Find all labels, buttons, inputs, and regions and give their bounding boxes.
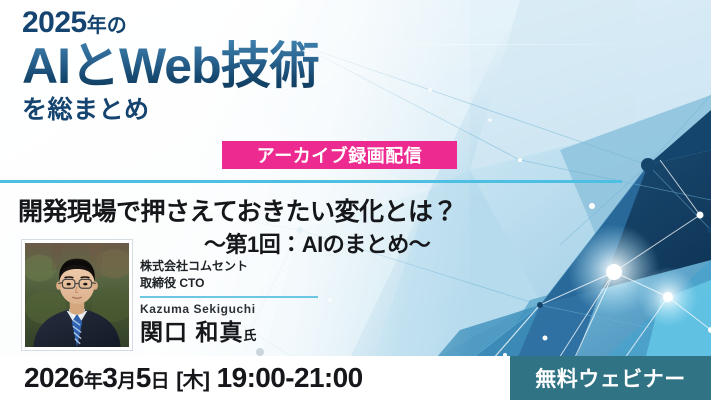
speaker-name-en: Kazuma Sekiguchi [140,302,325,318]
speaker-portrait-image [25,243,129,347]
event-datetime: 2026年3月5日 [木] 19:00-21:00 [24,364,363,392]
event-year-unit: 年 [84,371,102,392]
event-day-of-week: [木] [176,369,209,392]
speaker-photo [22,240,132,350]
archive-badge-label: アーカイブ録画配信 [257,142,422,168]
event-time: 19:00-21:00 [217,362,363,393]
headline-year-number: 2025 [22,6,87,39]
event-year: 2026 [24,362,84,393]
free-webinar-badge: 無料ウェビナー [510,356,711,400]
headline-year: 2025年の [22,8,319,38]
event-day: 5 [136,362,151,393]
speaker-name-ja-text: 関口 和真 [140,319,243,345]
headline-year-suffix: 年の [87,15,127,37]
archive-badge: アーカイブ録画配信 [222,141,457,169]
speaker-company: 株式会社コムセント [140,258,325,275]
subtitle-line-1: 開発現場で押さえておきたい変化とは？ [18,192,457,228]
headline-block: 2025年の AIとWeb技術 を総まとめ [22,8,319,123]
headline-summary: を総まとめ [22,98,319,123]
subtitle-line-2: 〜第1回：AIのまとめ〜 [204,227,430,259]
speaker-info: 株式会社コムセント 取締役 CTO Kazuma Sekiguchi 関口 和真… [140,258,325,345]
cyan-divider-rule [0,180,622,183]
speaker-honorific: 氏 [243,328,256,343]
webinar-banner: 2025年の AIとWeb技術 を総まとめ アーカイブ録画配信 開発現場で押さえ… [0,0,711,400]
free-webinar-label: 無料ウェビナー [535,363,686,393]
speaker-name-ja: 関口 和真氏 [140,319,325,345]
footer-bar: 2026年3月5日 [木] 19:00-21:00 無料ウェビナー [0,356,711,400]
event-day-unit: 日 [151,371,169,392]
speaker-title: 取締役 CTO [140,275,325,292]
headline-main: AIとWeb技術 [22,40,319,92]
event-month-unit: 月 [117,371,135,392]
event-month: 3 [102,362,117,393]
speaker-info-divider [140,296,318,298]
